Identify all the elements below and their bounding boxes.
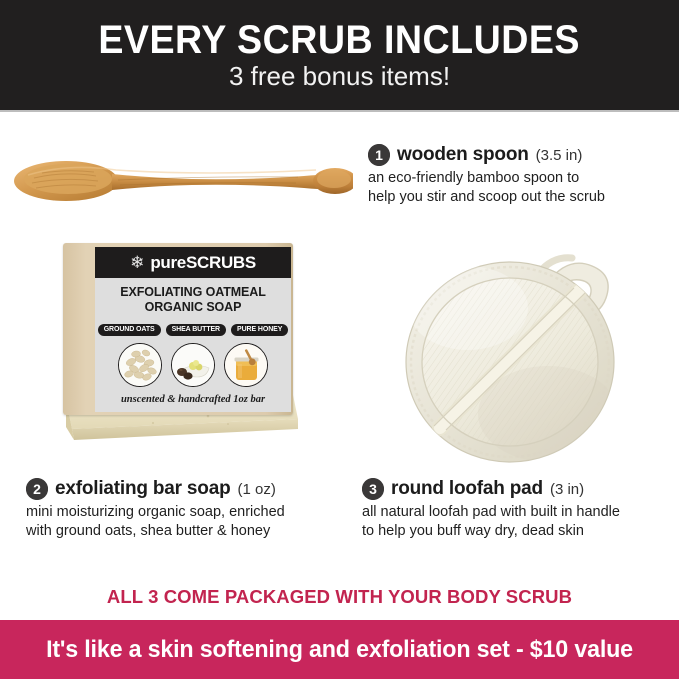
soap-kraft-sleeve: ❄ pureSCRUBS EXFOLIATING OATMEAL ORGANIC… [63, 243, 293, 415]
item-2-title: exfoliating bar soap [55, 478, 230, 500]
honey-jar-photo [224, 343, 268, 387]
item-2-number-badge: 2 [26, 478, 48, 500]
item-2-size: (1 oz) [237, 481, 275, 498]
header-banner: EVERY SCRUB INCLUDES 3 free bonus items! [0, 0, 679, 110]
ingredient-image-row [101, 343, 285, 387]
item-2-description-line-2: with ground oats, shea butter & honey [26, 522, 336, 541]
shea-butter-photo [171, 343, 215, 387]
item-3-heading: 3 round loofah pad (3 in) [362, 478, 667, 500]
ingredient-pill: SHEA BUTTER [166, 324, 226, 336]
brand-name: pureSCRUBS [150, 253, 256, 273]
brand-ornament-icon: ❄ [130, 254, 144, 271]
item-1-number-badge: 1 [368, 144, 390, 166]
header-divider [0, 110, 679, 112]
item-2-description: mini moisturizing organic soap, enriched… [26, 503, 336, 541]
item-1-heading: 1 wooden spoon (3.5 in) [368, 144, 668, 166]
item-1-description: an eco-friendly bamboo spoon to help you… [368, 169, 668, 207]
item-3-text-block: 3 round loofah pad (3 in) all natural lo… [362, 478, 667, 541]
soap-product-name-line-1: EXFOLIATING OATMEAL [101, 285, 285, 300]
item-3-description-line-1: all natural loofah pad with built in han… [362, 503, 667, 522]
item-3-description-line-2: to help you buff way dry, dead skin [362, 522, 667, 541]
value-banner-text: It's like a skin softening and exfoliati… [46, 636, 633, 664]
soap-product-name: EXFOLIATING OATMEAL ORGANIC SOAP [101, 285, 285, 316]
item-3-number-badge: 3 [362, 478, 384, 500]
soap-footnote: unscented & handcrafted 1oz bar [101, 394, 285, 405]
soap-label-brand-bar: ❄ pureSCRUBS [95, 247, 291, 278]
page-subtitle: 3 free bonus items! [229, 63, 450, 90]
item-1-text-block: 1 wooden spoon (3.5 in) an eco-friendly … [368, 144, 668, 207]
ingredient-pill-row: GROUND OATS SHEA BUTTER PURE HONEY [101, 324, 285, 336]
ingredient-pill: PURE HONEY [231, 324, 288, 336]
item-1-description-line-2: help you stir and scoop out the scrub [368, 188, 668, 207]
soap-label-body: EXFOLIATING OATMEAL ORGANIC SOAP GROUND … [95, 278, 291, 405]
item-3-title: round loofah pad [391, 478, 543, 500]
value-banner: It's like a skin softening and exfoliati… [0, 620, 679, 679]
item-1-size: (3.5 in) [536, 147, 583, 164]
soap-product-name-line-2: ORGANIC SOAP [101, 300, 285, 315]
item-2-description-line-1: mini moisturizing organic soap, enriched [26, 503, 336, 522]
ingredient-pill: GROUND OATS [98, 324, 161, 336]
page-title: EVERY SCRUB INCLUDES [99, 20, 581, 61]
item-2-heading: 2 exfoliating bar soap (1 oz) [26, 478, 336, 500]
item-2-text-block: 2 exfoliating bar soap (1 oz) mini moist… [26, 478, 336, 541]
loofah-pad-photo [398, 238, 643, 470]
soap-label: ❄ pureSCRUBS EXFOLIATING OATMEAL ORGANIC… [95, 247, 291, 412]
bamboo-spoon-photo [8, 150, 353, 212]
packaged-note: ALL 3 COME PACKAGED WITH YOUR BODY SCRUB [0, 586, 679, 608]
item-1-description-line-1: an eco-friendly bamboo spoon to [368, 169, 668, 188]
item-3-size: (3 in) [550, 481, 584, 498]
item-3-description: all natural loofah pad with built in han… [362, 503, 667, 541]
bar-soap-photo: ❄ pureSCRUBS EXFOLIATING OATMEAL ORGANIC… [48, 243, 313, 458]
infographic-page: EVERY SCRUB INCLUDES 3 free bonus items! [0, 0, 679, 679]
ground-oats-photo [118, 343, 162, 387]
item-1-title: wooden spoon [397, 144, 529, 166]
